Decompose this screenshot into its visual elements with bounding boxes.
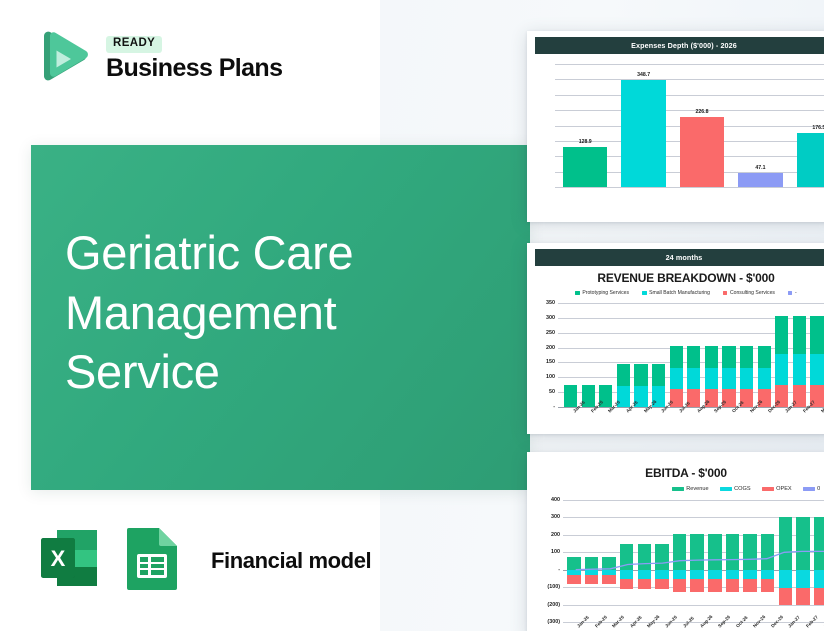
legend-swatch: [803, 487, 815, 491]
expenses-chart-title: Expenses Depth ($'000) - 2026: [535, 37, 824, 54]
bar-segment: [687, 368, 700, 389]
bar-segment: [705, 368, 718, 389]
poster-canvas: READY Business Plans Geriatric Care Mana…: [0, 0, 824, 631]
legend-swatch: [788, 291, 793, 296]
revenue-plot-area: -50100150200250300350: [558, 303, 824, 407]
bar-value-label: 47.1: [738, 165, 782, 171]
y-tick-label: 200: [551, 532, 560, 538]
bar-value-label: 348.7: [621, 72, 665, 78]
expenses-plot-area: 128.9348.7226.847.1176.5: [555, 64, 824, 187]
legend-swatch: [642, 291, 647, 296]
legend-item: OPEX: [762, 486, 792, 492]
gridline: [555, 187, 824, 188]
chart-card-ebitda: EBITDA - $'000 RevenueCOGSOPEX0 40030020…: [527, 452, 824, 631]
bar-segment: [758, 346, 771, 368]
y-tick-label: 300: [546, 315, 555, 321]
revenue-legend: Prototyping ServicesSmall Batch Manufact…: [535, 290, 824, 296]
y-tick-label: 100: [546, 374, 555, 380]
y-tick-label: (100): [547, 584, 560, 590]
y-tick-label: 300: [551, 514, 560, 520]
expenses-bars: 128.9348.7226.847.1176.5: [563, 64, 824, 187]
hero-panel: Geriatric Care Management Service: [31, 145, 530, 490]
legend-swatch: [575, 291, 580, 296]
legend-label: -: [795, 290, 797, 296]
bar: 348.7: [621, 80, 665, 187]
bar-fill: [797, 133, 824, 187]
brand-name: Business Plans: [106, 55, 282, 82]
revenue-x-axis: Jan-26Feb-26Mar-26Apr-26May-26Jun-26Jul-…: [535, 408, 824, 434]
legend-swatch: [672, 487, 684, 491]
bar-column: [793, 316, 806, 407]
bar-column: [740, 346, 753, 407]
y-tick-label: 350: [546, 300, 555, 306]
bar-fill: [563, 147, 607, 187]
financial-model-label: Financial model: [211, 548, 371, 574]
legend-swatch: [723, 291, 728, 296]
svg-text:X: X: [51, 546, 66, 571]
y-tick-label: 150: [546, 359, 555, 365]
legend-label: COGS: [734, 486, 750, 492]
bar-value-label: 128.9: [563, 139, 607, 145]
ebitda-x-axis: Jan-26Feb-26Mar-26Apr-26May-26Jun-26Jul-…: [535, 623, 824, 631]
bar-segment: [810, 316, 823, 354]
bar-column: [564, 385, 577, 407]
google-sheets-icon: [121, 522, 183, 599]
bar-segment: [634, 364, 647, 386]
bar-segment: [740, 346, 753, 368]
legend-item: Revenue: [672, 486, 709, 492]
ebitda-chart-title: EBITDA - $'000: [535, 466, 824, 480]
bar-fill: [621, 80, 665, 187]
bar-column: [810, 316, 823, 407]
revenue-bars: [564, 303, 824, 407]
legend-label: Consulting Services: [730, 290, 775, 296]
bar-column: [687, 346, 700, 407]
y-tick-label: 50: [549, 389, 555, 395]
brand-lockup: READY Business Plans: [30, 28, 282, 90]
legend-label: OPEX: [776, 486, 792, 492]
bar: 47.1: [738, 173, 782, 187]
y-tick-label: 100: [551, 549, 560, 555]
bar-segment: [758, 368, 771, 389]
bar-segment: [652, 364, 665, 386]
bar-segment: [687, 346, 700, 368]
bar-segment: [617, 364, 630, 386]
legend-item: COGS: [720, 486, 751, 492]
bar-value-label: 176.5: [797, 125, 824, 131]
chart-card-expenses: Expenses Depth ($'000) - 2026 128.9348.7…: [527, 31, 824, 222]
legend-item: Small Batch Manufacturing: [642, 290, 710, 296]
bar-fill: [738, 173, 782, 187]
y-tick-label: -: [558, 567, 560, 573]
bar-value-label: 226.8: [680, 109, 724, 115]
revenue-period-bar: 24 months: [535, 249, 824, 266]
page-title: Geriatric Care Management Service: [65, 223, 495, 402]
bar-fill: [680, 117, 724, 187]
y-tick-label: 200: [546, 345, 555, 351]
y-tick-label: 250: [546, 330, 555, 336]
bar-segment: [793, 354, 806, 385]
legend-label: Prototyping Services: [582, 290, 629, 296]
bar-column: [722, 346, 735, 407]
bar-segment: [775, 316, 788, 354]
bar-segment: [775, 354, 788, 385]
bar-segment: [793, 316, 806, 354]
bar-segment: [722, 346, 735, 368]
bar-segment: [722, 368, 735, 389]
bar-segment: [705, 346, 718, 368]
microsoft-excel-icon: X: [33, 522, 105, 599]
y-tick-label: (200): [547, 602, 560, 608]
bar-segment: [564, 385, 577, 407]
bar: 226.8: [680, 117, 724, 187]
legend-item: Prototyping Services: [575, 290, 629, 296]
bar-column: [775, 316, 788, 407]
legend-item: Consulting Services: [723, 290, 775, 296]
revenue-chart-title: REVENUE BREAKDOWN - $'000: [535, 271, 824, 285]
bar-segment: [670, 368, 683, 389]
legend-label: Revenue: [686, 486, 708, 492]
bar: 176.5: [797, 133, 824, 187]
play-triangles-logo-icon: [30, 28, 92, 90]
legend-item: -: [788, 290, 797, 296]
legend-label: Small Batch Manufacturing: [649, 290, 710, 296]
legend-swatch: [762, 487, 774, 491]
ebitda-plot-area: 400300200100-(100)(200)(300): [563, 500, 824, 622]
bar-column: [670, 346, 683, 407]
bar-segment: [740, 368, 753, 389]
footer-row: X Financial model: [33, 522, 371, 599]
chart-card-revenue: 24 months REVENUE BREAKDOWN - $'000 Prot…: [527, 243, 824, 434]
bar-segment: [670, 346, 683, 368]
ebitda-trend-line: [567, 500, 824, 622]
ebitda-legend: RevenueCOGSOPEX0: [535, 486, 824, 492]
bar: 128.9: [563, 147, 607, 187]
legend-label: 0: [817, 486, 820, 492]
y-tick-label: 400: [551, 497, 560, 503]
legend-swatch: [720, 487, 732, 491]
bar-segment: [810, 354, 823, 385]
ready-badge: READY: [106, 36, 162, 53]
legend-item: 0: [803, 486, 821, 492]
